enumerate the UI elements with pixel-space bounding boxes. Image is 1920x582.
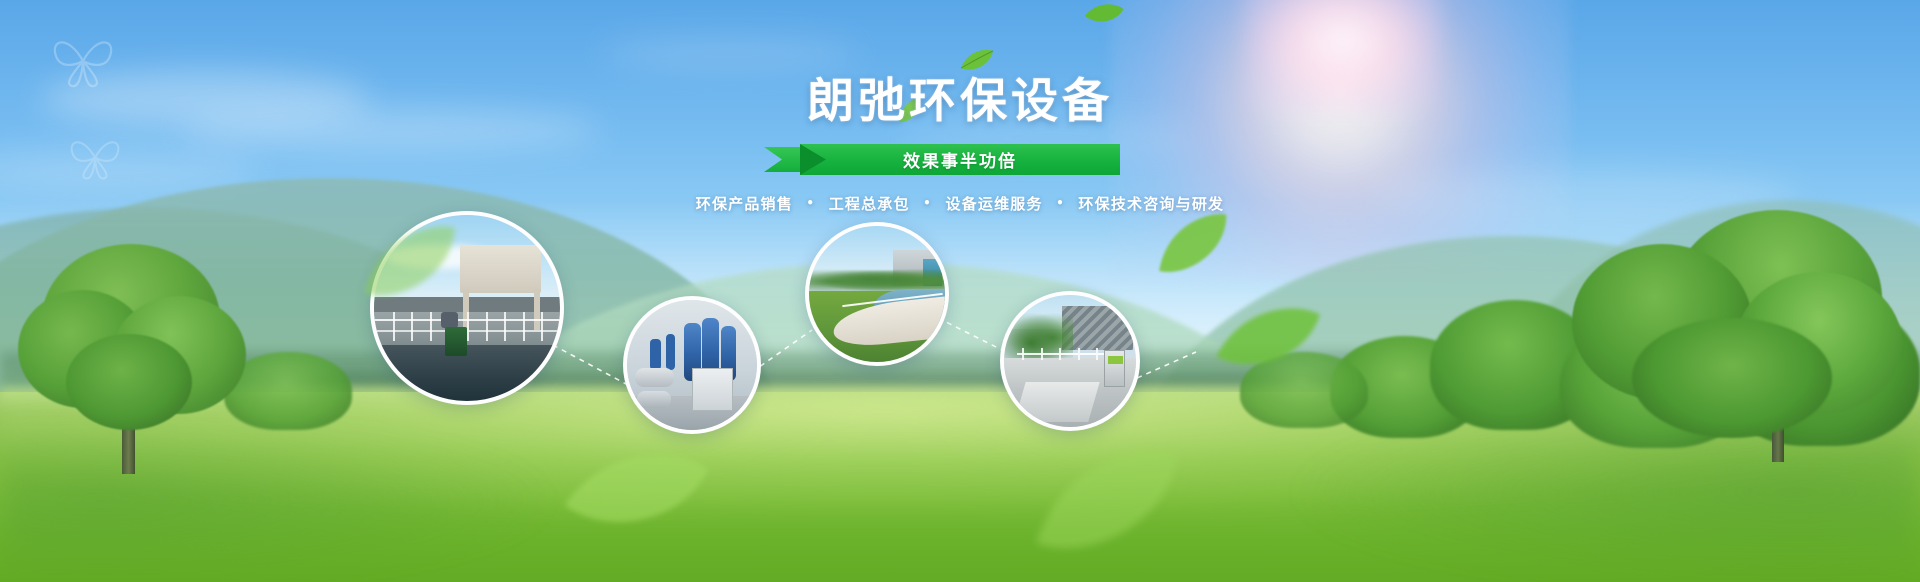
photo-circle-equipment-room[interactable] xyxy=(623,296,761,434)
leaf-icon xyxy=(1204,294,1331,380)
leaf-icon xyxy=(960,48,994,72)
tree-canopy xyxy=(1632,318,1832,438)
photo-circle-filter-facility[interactable] xyxy=(1000,291,1140,431)
sun-core-icon xyxy=(1245,0,1440,115)
cloud-icon xyxy=(600,36,860,70)
cloud-icon xyxy=(900,120,1200,156)
photo-circle-plant-walkway[interactable] xyxy=(805,222,949,366)
cloud-icon xyxy=(180,108,600,152)
hero-banner: 朗弛环保设备 效果事半功倍 环保产品销售 • 工程总承包 • 设备运维服务 • … xyxy=(0,0,1920,582)
left-tree-icon xyxy=(14,238,244,468)
right-tree-icon xyxy=(1572,210,1902,460)
leaf-icon xyxy=(1008,440,1205,563)
butterfly-icon xyxy=(66,130,124,182)
butterfly-icon xyxy=(48,28,118,90)
tree-canopy xyxy=(66,334,192,430)
